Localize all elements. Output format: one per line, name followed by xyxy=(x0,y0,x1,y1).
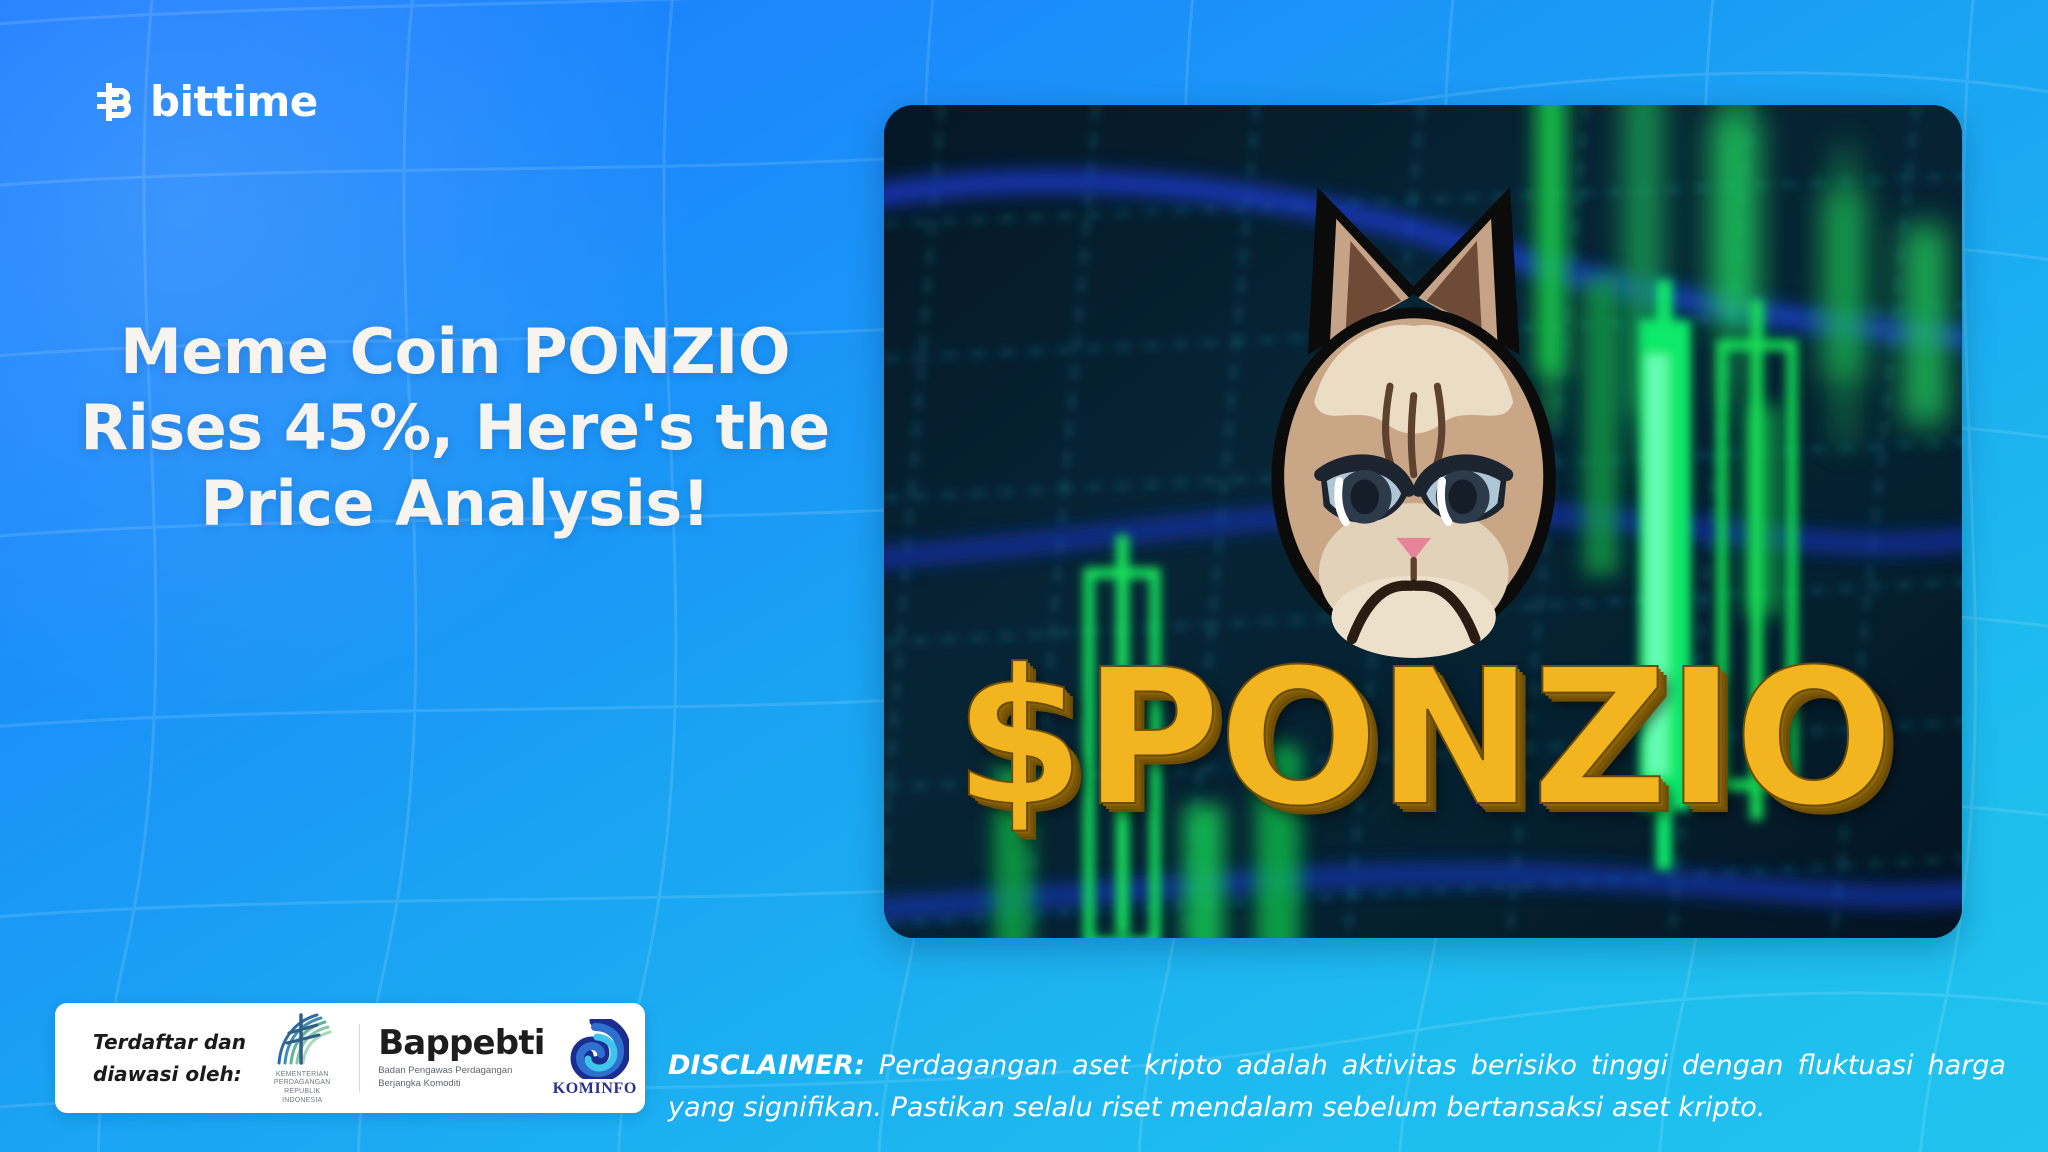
kementerian-perdagangan-logo-icon xyxy=(271,1011,333,1069)
bittime-b-logo-icon xyxy=(92,79,138,125)
bappebti-subtitle: Badan Pengawas Perdagangan Berjangka Kom… xyxy=(378,1065,544,1090)
regulator-lead-text: Terdaftar dan diawasi oleh: xyxy=(55,1026,263,1091)
page-title: Meme Coin PONZIO Rises 45%, Here's the P… xyxy=(60,314,850,543)
hero-artwork xyxy=(884,105,1962,938)
kemendag-logo-block: KEMENTERIAN PERDAGANGAN REPUBLIK INDONES… xyxy=(263,1011,341,1106)
kominfo-logo-icon xyxy=(561,1019,629,1079)
headline-line-2: Rises 45%, Here's the xyxy=(60,390,850,466)
promo-banner: bittime Meme Coin PONZIO Rises 45%, Here… xyxy=(0,0,2048,1152)
kominfo-name: KOMINFO xyxy=(553,1080,637,1098)
kemendag-caption-line-1: KEMENTERIAN xyxy=(263,1071,341,1080)
regulator-lead-line-1: Terdaftar dan xyxy=(93,1026,263,1058)
headline-line-3: Price Analysis! xyxy=(60,466,850,542)
disclaimer-body: Perdagangan aset kripto adalah aktivitas… xyxy=(668,1050,2006,1123)
kominfo-block: KOMINFO xyxy=(545,1019,645,1098)
regulator-badge: Terdaftar dan diawasi oleh: KEMENTERIAN xyxy=(55,1003,645,1113)
disclaimer-text: DISCLAIMER: Perdagangan aset kripto adal… xyxy=(668,1045,2006,1129)
bappebti-subtitle-line-2: Berjangka Komoditi xyxy=(378,1078,544,1090)
brand-logo[interactable]: bittime xyxy=(92,78,318,126)
brand-name: bittime xyxy=(150,81,318,123)
bappebti-name: Bappebti xyxy=(378,1026,544,1060)
headline-line-1: Meme Coin PONZIO xyxy=(60,314,850,390)
hero-image-card[interactable]: $PONZIO xyxy=(884,105,1962,938)
disclaimer-label: DISCLAIMER: xyxy=(668,1050,865,1081)
kemendag-caption-line-2: PERDAGANGAN xyxy=(263,1079,341,1088)
bappebti-subtitle-line-1: Badan Pengawas Perdagangan xyxy=(378,1065,544,1077)
regulator-lead-line-2: diawasi oleh: xyxy=(93,1058,263,1090)
bappebti-block: Bappebti Badan Pengawas Perdagangan Berj… xyxy=(378,1026,544,1090)
kemendag-caption: KEMENTERIAN PERDAGANGAN REPUBLIK INDONES… xyxy=(263,1071,341,1106)
badge-divider xyxy=(359,1024,360,1092)
kemendag-caption-line-3: REPUBLIK INDONESIA xyxy=(263,1088,341,1106)
